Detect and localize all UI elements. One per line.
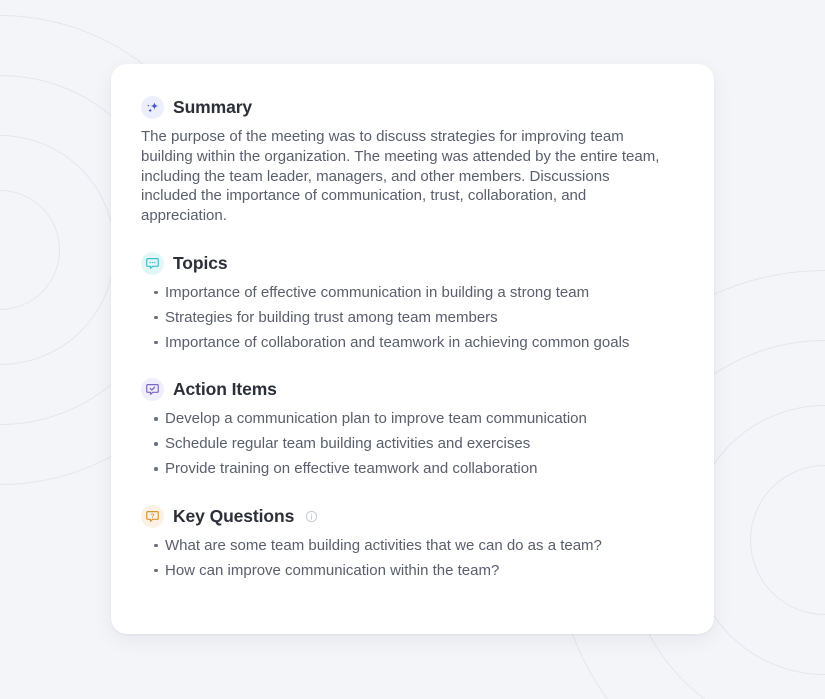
- list-item: Importance of effective communication in…: [141, 283, 681, 303]
- list-item: Schedule regular team building activitie…: [141, 434, 681, 454]
- section-action-items-header: Action Items: [141, 378, 684, 401]
- key-questions-list: What are some team building activities t…: [141, 536, 684, 581]
- section-topics-title: Topics: [173, 253, 228, 274]
- chat-bubble-question-icon: ?: [141, 505, 164, 528]
- list-item: What are some team building activities t…: [141, 536, 681, 556]
- section-summary-header: Summary: [141, 96, 684, 119]
- decor-ring-right-1: [750, 465, 825, 615]
- chat-bubble-check-icon: [141, 378, 164, 401]
- section-topics-header: Topics: [141, 252, 684, 275]
- list-item: Strategies for building trust among team…: [141, 308, 681, 328]
- decor-ring-left-1: [0, 190, 60, 310]
- section-action-items-title: Action Items: [173, 379, 277, 400]
- info-circle-icon[interactable]: [305, 510, 318, 523]
- section-summary-title: Summary: [173, 97, 252, 118]
- list-item: Importance of collaboration and teamwork…: [141, 333, 681, 353]
- section-key-questions: ? Key Questions What are some team build…: [141, 505, 684, 581]
- list-item: How can improve communication within the…: [141, 561, 681, 581]
- list-item: Develop a communication plan to improve …: [141, 409, 681, 429]
- chat-bubble-dots-icon: [141, 252, 164, 275]
- action-items-list: Develop a communication plan to improve …: [141, 409, 684, 479]
- section-topics: Topics Importance of effective communica…: [141, 252, 684, 353]
- section-key-questions-title: Key Questions: [173, 506, 294, 527]
- section-key-questions-header: ? Key Questions: [141, 505, 684, 528]
- sparkle-icon: [141, 96, 164, 119]
- list-item: Provide training on effective teamwork a…: [141, 459, 681, 479]
- section-action-items: Action Items Develop a communication pla…: [141, 378, 684, 479]
- meeting-summary-card: Summary The purpose of the meeting was t…: [111, 64, 714, 634]
- summary-body-text: The purpose of the meeting was to discus…: [141, 127, 669, 226]
- section-summary: Summary The purpose of the meeting was t…: [141, 96, 684, 226]
- svg-text:?: ?: [151, 513, 155, 520]
- decor-ring-left-2: [0, 135, 115, 365]
- topics-list: Importance of effective communication in…: [141, 283, 684, 353]
